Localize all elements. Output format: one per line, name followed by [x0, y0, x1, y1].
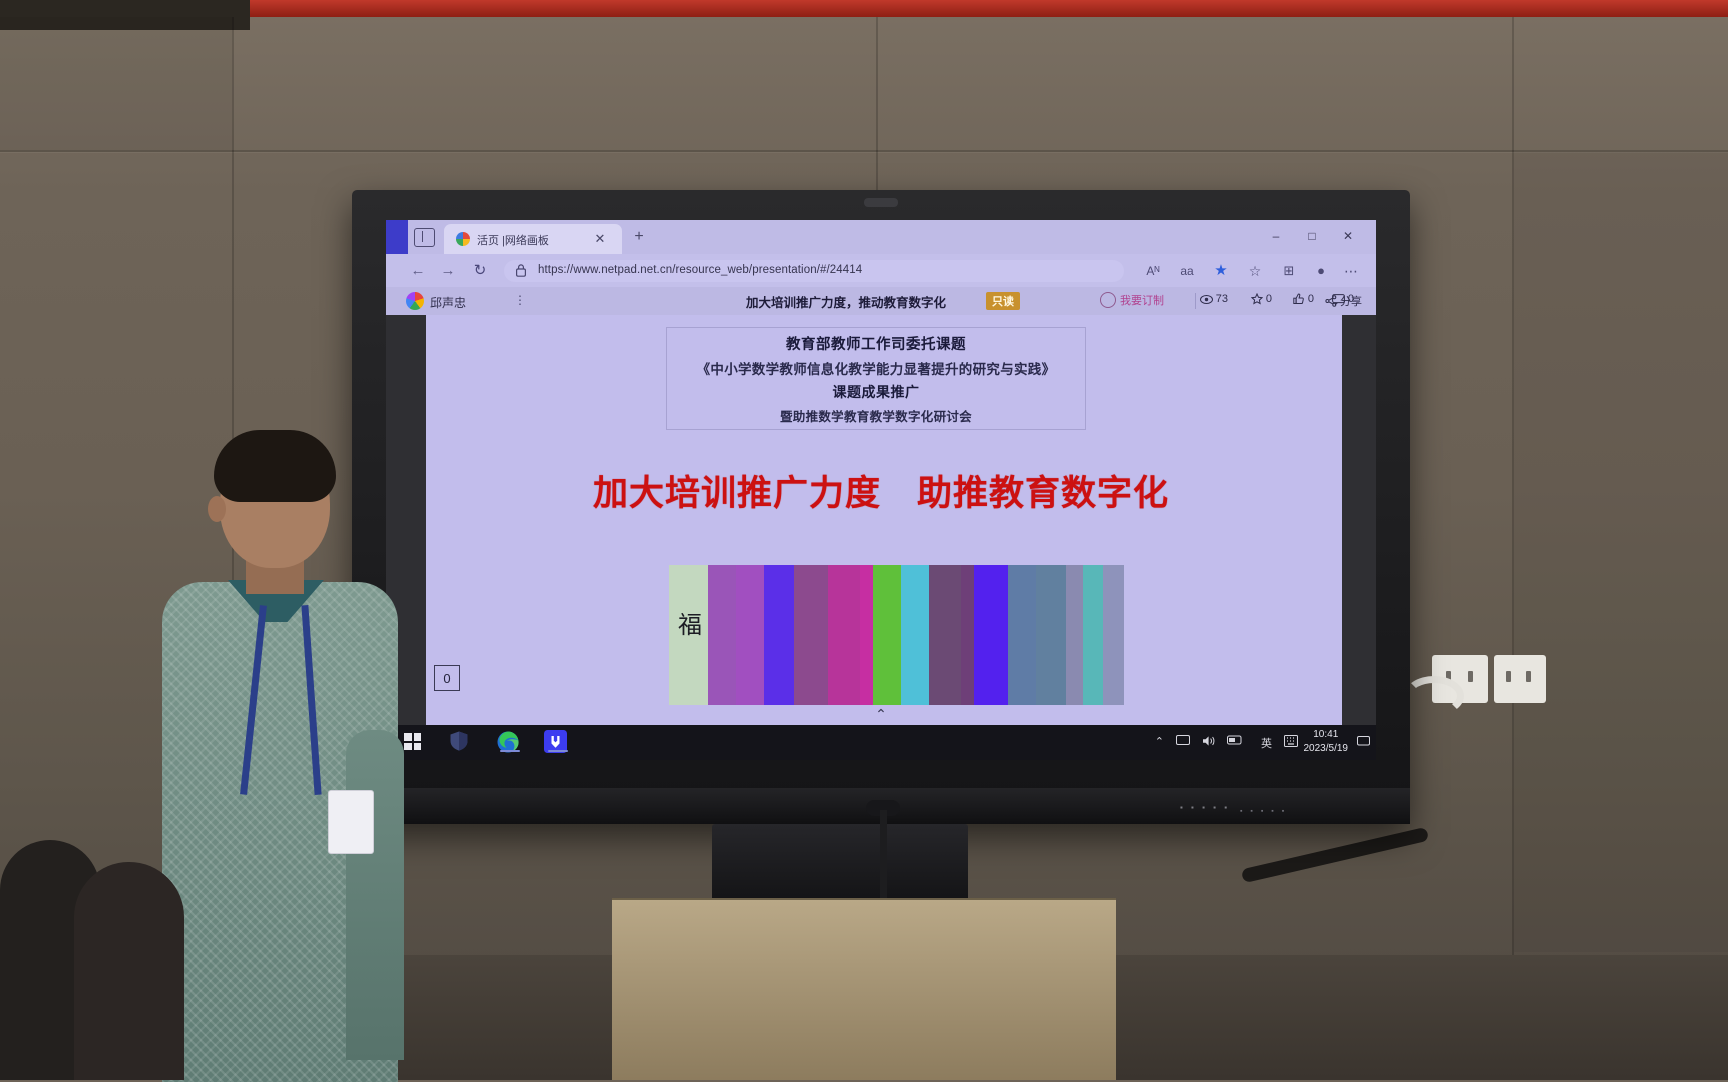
tab-favicon-icon [456, 232, 470, 246]
slide-header-textbox: 教育部教师工作司委托课题 《中小学数学教师信息化教学能力显著提升的研究与实践》 … [666, 327, 1086, 430]
header-divider [1195, 293, 1196, 309]
microphone-stand [880, 810, 887, 905]
browser-nav-bar: ← → ↻ https://www.netpad.net.cn/resource… [386, 254, 1376, 287]
color-stripe-3 [764, 565, 794, 705]
slide-header-line-4: 暨助推数学教育教学数字化研讨会 [667, 406, 1085, 425]
security-shield-icon[interactable] [448, 730, 476, 754]
view-count: 73 [1200, 293, 1228, 305]
canvas-right-gutter [1342, 315, 1376, 725]
wall-panel-1 [0, 17, 232, 150]
color-stripe-14 [1066, 565, 1083, 705]
keyboard-icon[interactable] [1284, 735, 1298, 750]
tv-stand [712, 824, 968, 904]
share-button[interactable]: 分享 [1325, 293, 1362, 309]
smiley-icon [1100, 292, 1116, 308]
floor-cable [1241, 827, 1429, 883]
share-label: 分享 [1340, 293, 1362, 309]
browser-tab[interactable]: 活页 |网络画板 ✕ [444, 224, 622, 254]
wall-seam-highlight [0, 152, 1728, 153]
color-stripe-2 [736, 565, 764, 705]
view-count-label: 73 [1216, 293, 1228, 305]
color-stripe-8 [901, 565, 929, 705]
star-icon [1251, 293, 1263, 305]
wall-seam-vertical-2 [876, 17, 878, 197]
fu-character-label: 福 [678, 605, 702, 640]
eye-icon [1200, 295, 1213, 304]
window-close-button[interactable]: ✕ [1338, 228, 1358, 246]
color-stripe-13 [1036, 565, 1066, 705]
star-count-label: 0 [1266, 293, 1272, 305]
color-stripe-15 [1083, 565, 1104, 705]
status-badge: 只读 [986, 292, 1020, 310]
color-stripe-16 [1103, 565, 1124, 705]
profile-avatar-icon[interactable]: ● [1310, 261, 1332, 281]
extensions-icon[interactable]: ⊞ [1278, 261, 1300, 281]
slide-main-title: 加大培训推广力度 助推教育数字化 [386, 465, 1376, 516]
battery-icon[interactable] [1227, 735, 1244, 748]
tab-actions-icon[interactable] [414, 228, 435, 247]
podium [612, 900, 1116, 1080]
presenter-hair [214, 430, 336, 502]
slide-header-line-1: 教育部教师工作司委托课题 [667, 333, 1085, 354]
share-icon [1325, 295, 1337, 307]
window-maximize-button[interactable]: □ [1302, 228, 1322, 246]
document-title: 加大培训推广力度，推动教育数字化 [706, 292, 986, 311]
like-count[interactable]: 0 [1293, 293, 1314, 305]
tray-expand-icon[interactable]: ⌃ [1155, 735, 1164, 748]
ime-indicator[interactable]: 英 [1261, 735, 1272, 751]
page-number-box[interactable]: 0 [434, 665, 460, 691]
audience-head-2 [74, 862, 184, 1080]
window-minimize-button[interactable]: – [1266, 228, 1286, 246]
subscribe-label: 我要订制 [1120, 292, 1164, 308]
color-stripe-4 [794, 565, 828, 705]
new-tab-button[interactable]: + [630, 228, 648, 246]
wps-office-icon[interactable] [544, 730, 572, 754]
window-edge-strip [386, 220, 408, 254]
microsoft-edge-icon[interactable] [496, 730, 524, 754]
color-stripe-6 [860, 565, 873, 705]
taskbar-clock[interactable]: 10:41 2023/5/19 [1304, 728, 1349, 756]
forward-icon[interactable]: → [438, 261, 458, 281]
favorite-star-icon[interactable]: ★ [1210, 261, 1232, 281]
display-icon[interactable] [1176, 735, 1190, 749]
presenter-ear [208, 496, 226, 522]
like-count-label: 0 [1308, 293, 1314, 305]
wall-accent-strip [0, 0, 1728, 17]
address-bar[interactable]: https://www.netpad.net.cn/resource_web/p… [504, 260, 1124, 282]
color-stripe-7 [873, 565, 901, 705]
netpad-app-header: 邱声忠 ⋮ 加大培训推广力度，推动教育数字化 只读 我要订制 [386, 287, 1376, 316]
presentation-canvas[interactable]: 教育部教师工作司委托课题 《中小学数学教师信息化教学能力显著提升的研究与实践》 … [386, 315, 1376, 725]
tv-camera [864, 198, 898, 207]
color-stripe-5 [828, 565, 860, 705]
id-badge [328, 790, 374, 854]
power-outlet-right [1494, 655, 1546, 703]
presenter-arm [346, 730, 404, 1060]
tv-screen: 活页 |网络画板 ✕ + – □ ✕ ← → ↻ [386, 220, 1376, 760]
user-name: 邱声忠 [430, 294, 466, 311]
windows-taskbar: ⌃ [386, 725, 1376, 760]
star-count[interactable]: 0 [1251, 293, 1272, 305]
browser-title-bar: 活页 |网络画板 ✕ + – □ ✕ [386, 220, 1376, 254]
avatar[interactable] [406, 292, 424, 310]
collections-icon[interactable]: ☆ [1244, 261, 1266, 281]
reload-icon[interactable]: ↻ [470, 261, 490, 281]
color-stripe-image [669, 565, 1124, 705]
overflow-menu-icon[interactable]: ⋮ [514, 293, 524, 309]
app-active-indicator [500, 750, 520, 752]
color-stripe-10 [961, 565, 974, 705]
color-stripe-1 [708, 565, 736, 705]
volume-icon[interactable] [1202, 735, 1216, 750]
immersive-reader-icon[interactable]: aa [1176, 261, 1198, 281]
browser-window: 活页 |网络画板 ✕ + – □ ✕ ← → ↻ [386, 220, 1376, 760]
more-options-icon[interactable]: ⋯ [1340, 261, 1362, 281]
color-stripe-11 [974, 565, 1008, 705]
slide-header-line-3: 课题成果推广 [667, 382, 1085, 402]
slide-header-line-2: 《中小学数学教师信息化教学能力显著提升的研究与实践》 [667, 358, 1085, 378]
subscribe-button[interactable]: 我要订制 [1100, 291, 1164, 309]
clock-time: 10:41 [1304, 728, 1349, 742]
app-active-indicator [548, 750, 568, 752]
tab-title: 活页 |网络画板 [477, 232, 549, 248]
tab-close-icon[interactable]: ✕ [592, 231, 608, 247]
clock-date: 2023/5/19 [1304, 742, 1349, 756]
color-stripe-9 [929, 565, 961, 705]
power-cable [1404, 676, 1464, 716]
tv-bezel [352, 190, 1410, 222]
lock-icon [516, 264, 526, 277]
thumbs-up-icon [1293, 293, 1305, 305]
chevron-up-icon[interactable]: ⌃ [386, 706, 1376, 723]
room-background: 活页 |网络画板 ✕ + – □ ✕ ← → ↻ [0, 0, 1728, 1080]
tv-side-buttons[interactable]: ▪ ▪ ▪ ▪ ▪ [1240, 808, 1360, 820]
read-aloud-icon[interactable]: Aᴺ [1142, 261, 1164, 281]
presenter [150, 430, 410, 1080]
url-text: https://www.netpad.net.cn/resource_web/p… [538, 264, 862, 276]
interactive-flat-panel-display: 活页 |网络画板 ✕ + – □ ✕ ← → ↻ [352, 190, 1410, 824]
action-center-icon[interactable] [1357, 736, 1370, 750]
color-stripe-12 [1008, 565, 1036, 705]
back-icon[interactable]: ← [408, 261, 428, 281]
wall-panel-2 [1514, 152, 1728, 952]
